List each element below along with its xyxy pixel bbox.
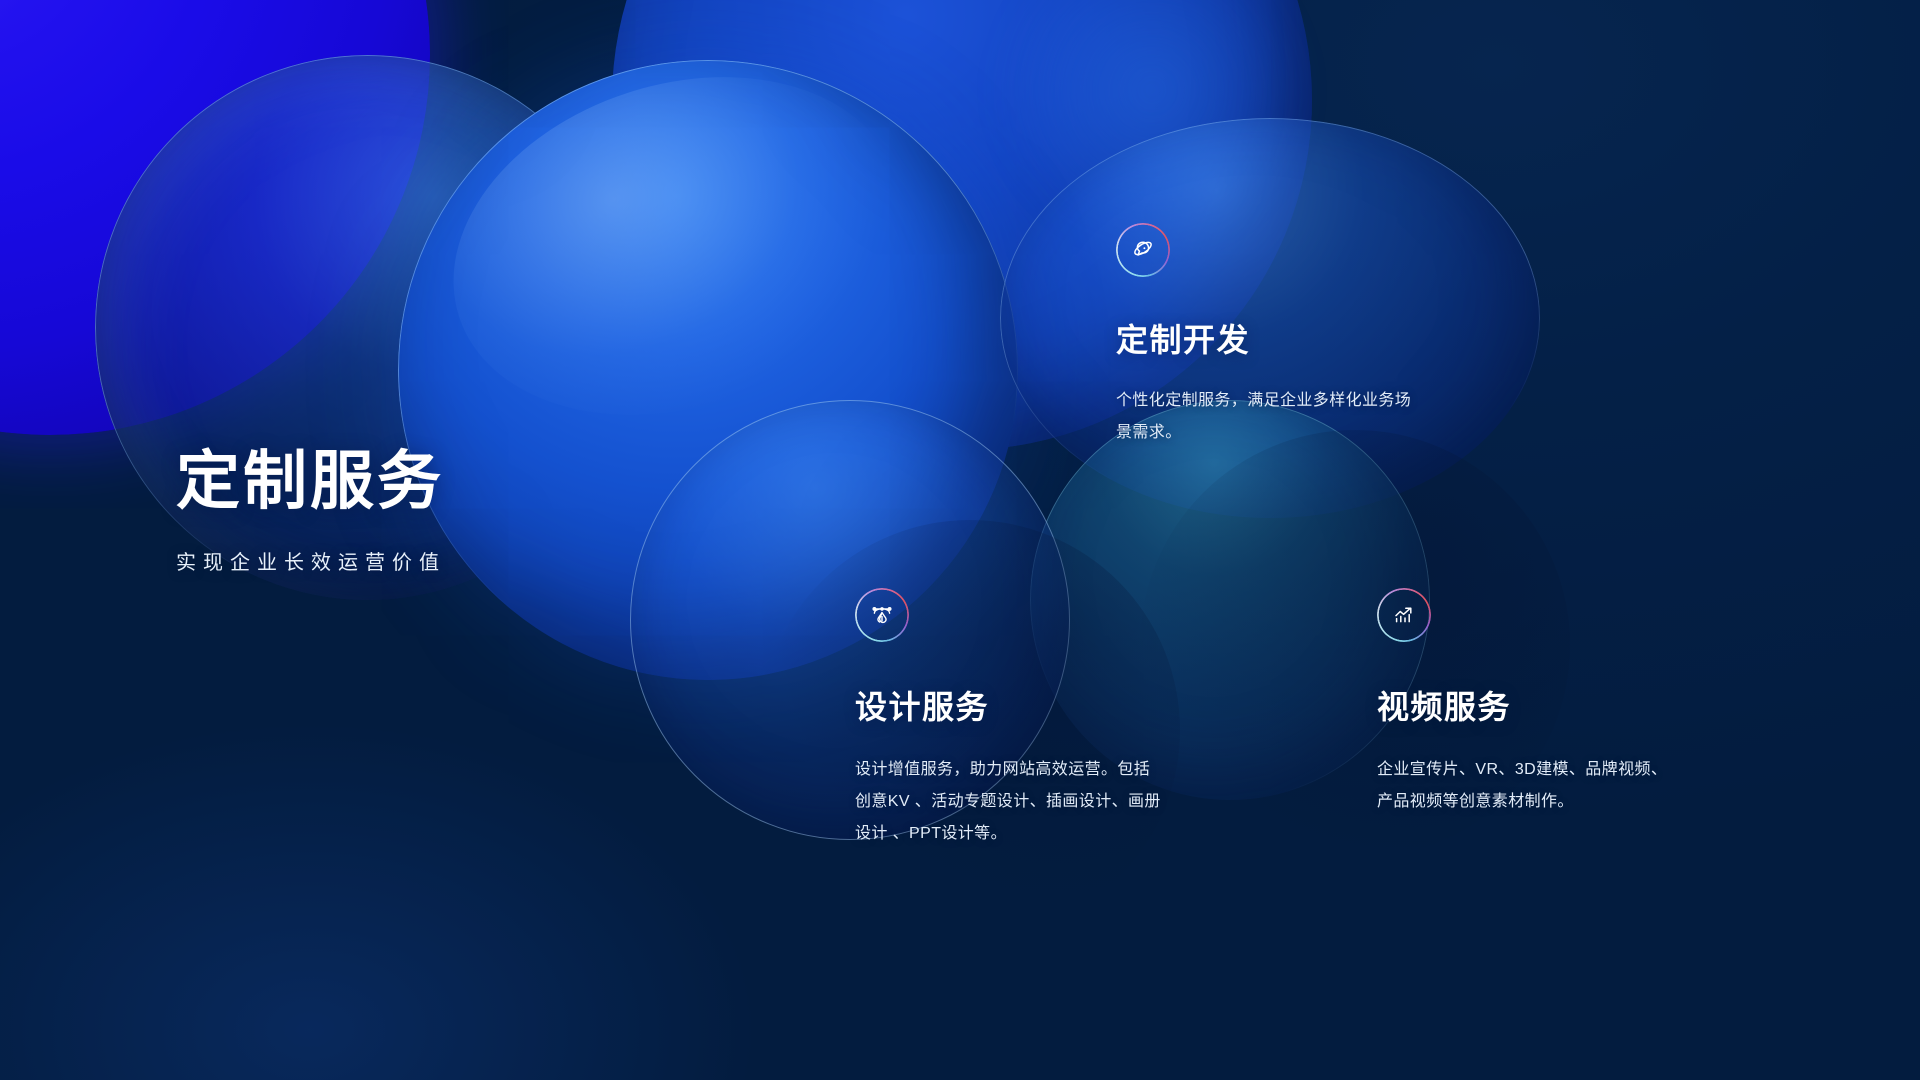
card-title: 定制开发: [1116, 315, 1416, 361]
page-subtitle: 实现企业长效运营价值: [176, 546, 696, 575]
content-layer: 定制服务 实现企业长效运营价值 定制开发 个性化定制服务，满足企业多样化业务场景…: [0, 0, 1920, 1080]
atom-icon: [1116, 223, 1170, 277]
pen-tool-icon: [855, 588, 909, 642]
card-title: 设计服务: [855, 682, 1167, 728]
page-title: 定制服务: [176, 448, 696, 516]
hero-section: 定制服务 实现企业长效运营价值 定制开发 个性化定制服务，满足企业多样化业务场景…: [0, 0, 1920, 1080]
growth-chart-icon: [1377, 588, 1431, 642]
card-description: 设计增值服务，助力网站高效运营。包括创意KV 、活动专题设计、插画设计、画册设计…: [855, 754, 1165, 850]
card-description: 企业宣传片、VR、3D建模、品牌视频、产品视频等创意素材制作。: [1377, 754, 1673, 818]
card-content-design-service: 设计服务 设计增值服务，助力网站高效运营。包括创意KV 、活动专题设计、插画设计…: [855, 588, 1167, 850]
card-content-video-service: 视频服务 企业宣传片、VR、3D建模、品牌视频、产品视频等创意素材制作。: [1377, 588, 1677, 818]
card-title: 视频服务: [1377, 682, 1677, 728]
hero-text-block: 定制服务 实现企业长效运营价值: [176, 448, 696, 575]
card-content-custom-development: 定制开发 个性化定制服务，满足企业多样化业务场景需求。: [1116, 223, 1416, 449]
card-description: 个性化定制服务，满足企业多样化业务场景需求。: [1116, 385, 1412, 449]
